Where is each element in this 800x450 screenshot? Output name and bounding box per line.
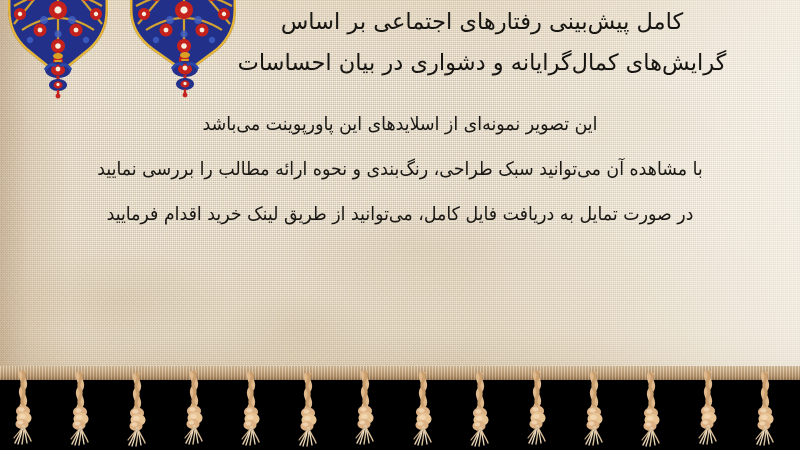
body-line-1: این تصویر نمونه‌ای از اسلایدهای این پاور… (24, 102, 776, 147)
title-line-2: گرایش‌های کمال‌گرایانه و دشواری در بیان … (182, 43, 782, 84)
fringe-tassel (75, 372, 91, 442)
fringe-tassel (760, 372, 776, 442)
slide-title: کامل پیش‌بینی رفتارهای اجتماعی بر اساس گ… (182, 2, 782, 84)
fringe-tassel (418, 372, 434, 442)
fringe-tassel (303, 373, 319, 443)
fringe-tassel (532, 371, 548, 441)
fringe-tassel (646, 373, 662, 443)
fringe-tassel (475, 373, 491, 443)
slide-body: این تصویر نمونه‌ای از اسلایدهای این پاور… (0, 102, 800, 237)
slide-text-layer: کامل پیش‌بینی رفتارهای اجتماعی بر اساس گ… (0, 0, 800, 378)
body-line-3: در صورت تمایل به دریافت فایل کامل، می‌تو… (24, 192, 776, 237)
fringe-tassel (189, 371, 205, 441)
fringe-woven-band (0, 366, 800, 380)
fringe-tassel (703, 371, 719, 441)
fringe-tassel (132, 373, 148, 443)
fringe-tassel (360, 371, 376, 441)
fringe-tassel (246, 372, 262, 442)
fringe-tassel (18, 371, 34, 441)
carpet-fringe (0, 366, 800, 450)
fringe-tassel (589, 372, 605, 442)
body-line-2: با مشاهده آن می‌توانید سبک طراحی، رنگ‌بن… (24, 147, 776, 192)
title-line-1: کامل پیش‌بینی رفتارهای اجتماعی بر اساس (182, 2, 782, 43)
slide-canvas: کامل پیش‌بینی رفتارهای اجتماعی بر اساس گ… (0, 0, 800, 450)
